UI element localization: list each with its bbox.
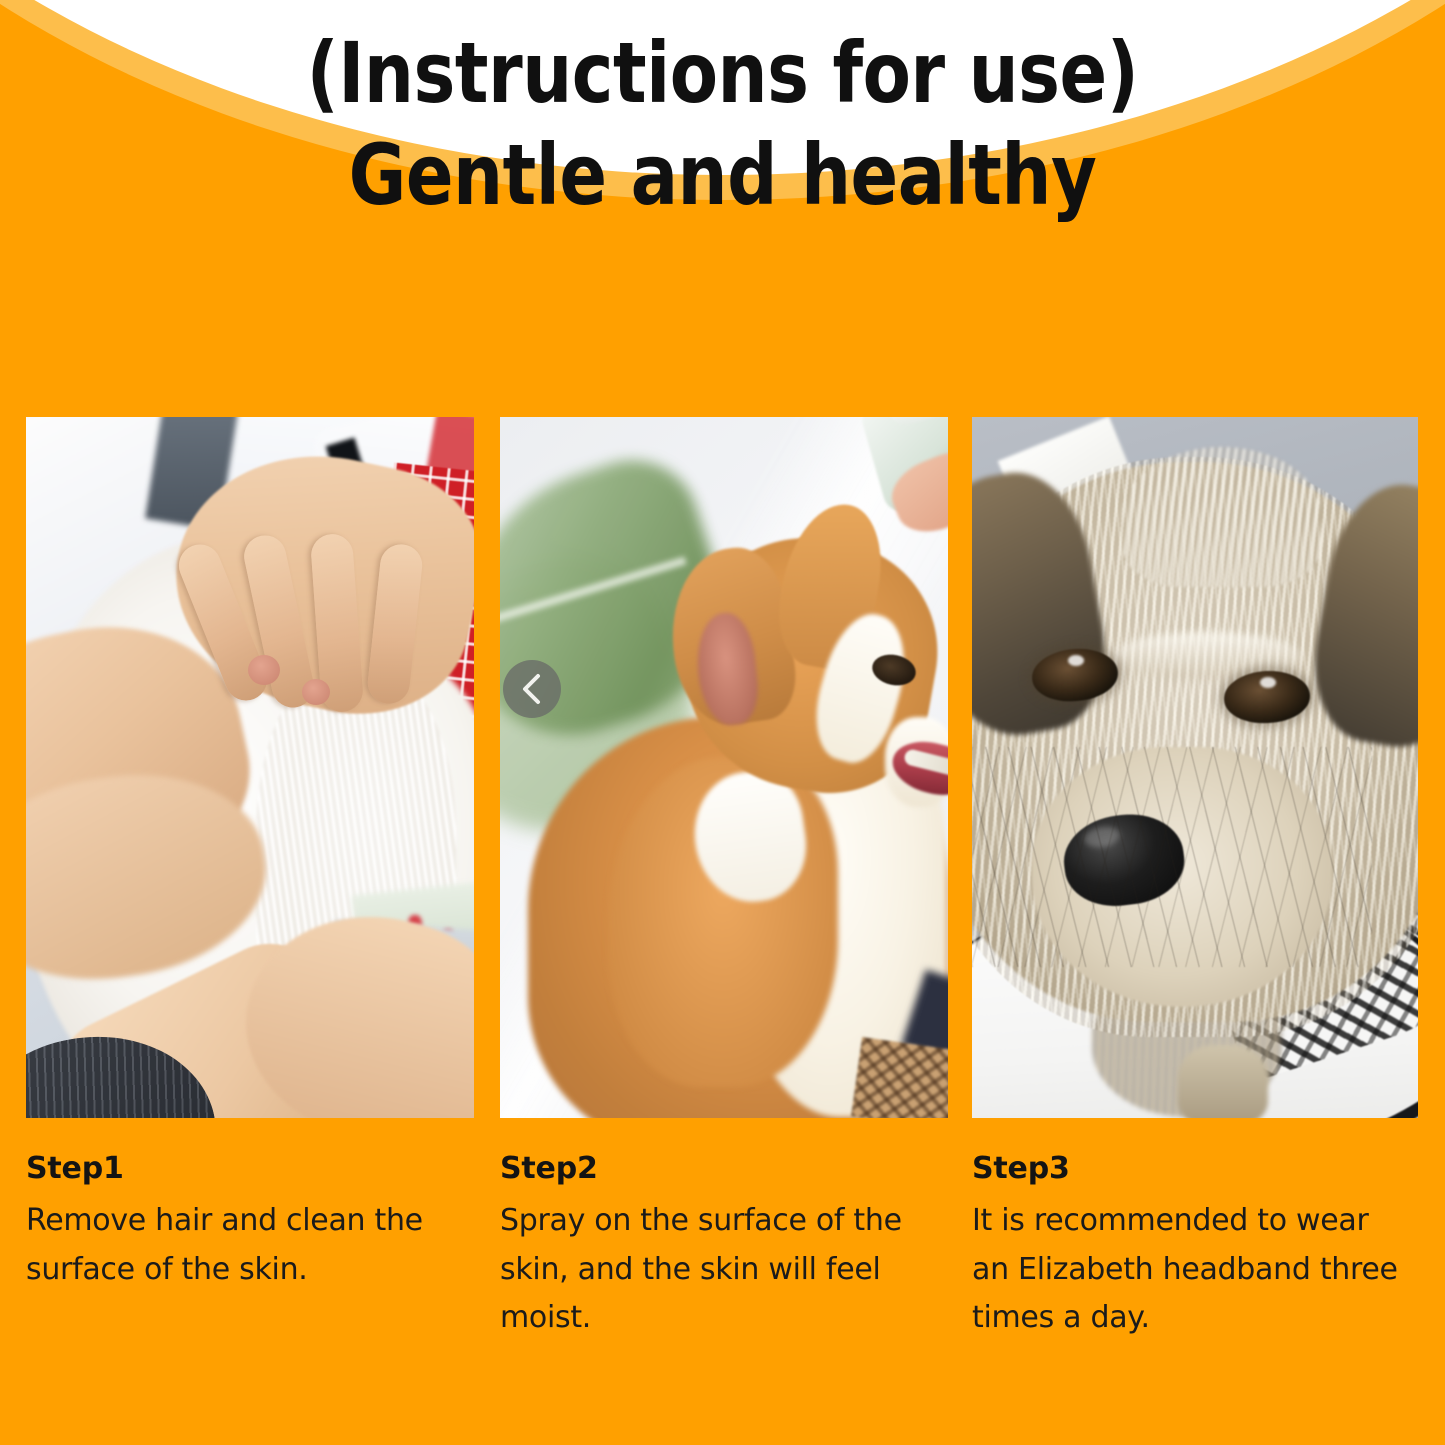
right-hand-fingers	[196, 522, 466, 722]
steps-row: Step1 Remove hair and clean the surface …	[0, 417, 1445, 1445]
step-card-2: Step2 Spray on the surface of the skin, …	[500, 417, 948, 1445]
page-title: (Instructions for use) Gentle and health…	[51, 22, 1395, 227]
chevron-left-icon	[520, 672, 544, 706]
step-2-photo[interactable]	[500, 417, 948, 1118]
terrier-eye-right-glint	[1260, 677, 1276, 688]
step-3-label: Step3	[972, 1152, 1418, 1185]
step-card-1: Step1 Remove hair and clean the surface …	[26, 417, 474, 1445]
terrier-whiskers	[972, 747, 1372, 967]
fingernail-upper	[248, 655, 280, 685]
step-2-caption: Step2 Spray on the surface of the skin, …	[500, 1118, 948, 1343]
step-3-photo[interactable]	[972, 417, 1418, 1118]
step-1-label: Step1	[26, 1152, 474, 1185]
terrier-eye-left-glint	[1068, 655, 1084, 666]
step-2-text: Spray on the surface of the skin, and th…	[500, 1197, 930, 1343]
step-1-caption: Step1 Remove hair and clean the surface …	[26, 1118, 474, 1294]
step-3-caption: Step3 It is recommended to wear an Eliza…	[972, 1118, 1418, 1343]
step-3-text: It is recommended to wear an Elizabeth h…	[972, 1197, 1402, 1343]
step-1-text: Remove hair and clean the surface of the…	[26, 1197, 456, 1294]
carousel-prev-button[interactable]	[503, 660, 561, 718]
woven-mat	[851, 1037, 948, 1118]
step-1-photo[interactable]	[26, 417, 474, 1118]
step-2-label: Step2	[500, 1152, 948, 1185]
terrier-forehead-fur	[1122, 447, 1322, 587]
step-card-3: Step3 It is recommended to wear an Eliza…	[972, 417, 1418, 1445]
fingernail-lower	[302, 679, 330, 705]
terrier-leg	[1178, 1045, 1268, 1118]
